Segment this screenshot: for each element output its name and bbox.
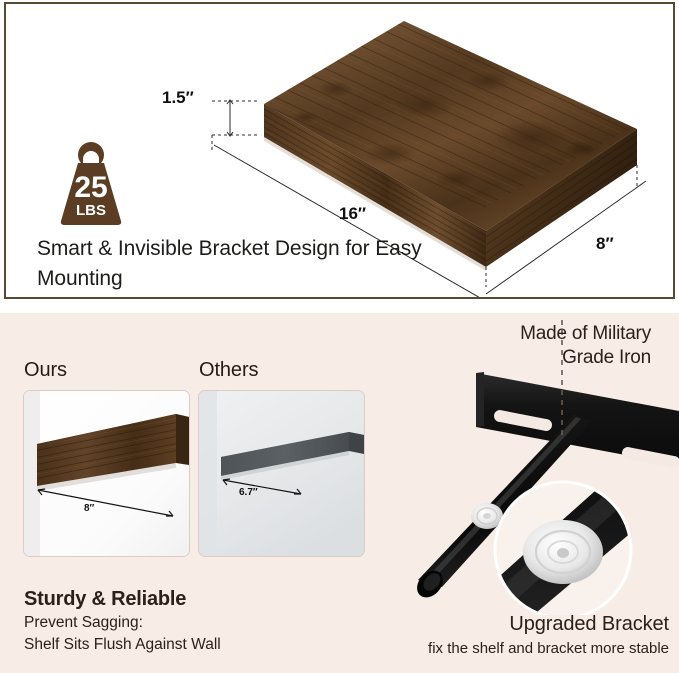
comparison-card-others: 6.7″ (198, 390, 365, 557)
top-feature-panel: 25 LBS Smart & Invisible Bracket Design … (4, 2, 675, 299)
sturdy-heading: Sturdy & Reliable (24, 588, 186, 611)
comparison-card-ours: 8″ (23, 390, 190, 557)
dimension-thickness-label: 1.5″ (162, 88, 194, 108)
comparison-label-ours: Ours (24, 359, 67, 382)
sturdy-body: Prevent Sagging: Shelf Sits Flush Agains… (24, 612, 221, 656)
page-title: Smart & Invisible Bracket Design for Eas… (37, 234, 457, 294)
infographic-root: 25 LBS Smart & Invisible Bracket Design … (0, 0, 679, 673)
ours-dimension-label: 8″ (84, 503, 95, 514)
weight-icon: 25 LBS (51, 139, 131, 227)
others-dimension-label: 6.7″ (239, 487, 258, 498)
dimension-depth-label: 8″ (596, 234, 614, 254)
dimension-length-label: 16″ (339, 204, 366, 224)
comparison-label-others: Others (199, 359, 258, 382)
weight-unit: LBS (76, 202, 106, 219)
upgraded-bracket-heading: Upgraded Bracket (509, 613, 669, 636)
weight-capacity-badge: 25 LBS (51, 139, 131, 227)
upgraded-bracket-body: fix the shelf and bracket more stable (428, 640, 669, 657)
weight-value: 25 (74, 171, 107, 204)
military-iron-callout: Made of Military Grade Iron (421, 322, 651, 370)
